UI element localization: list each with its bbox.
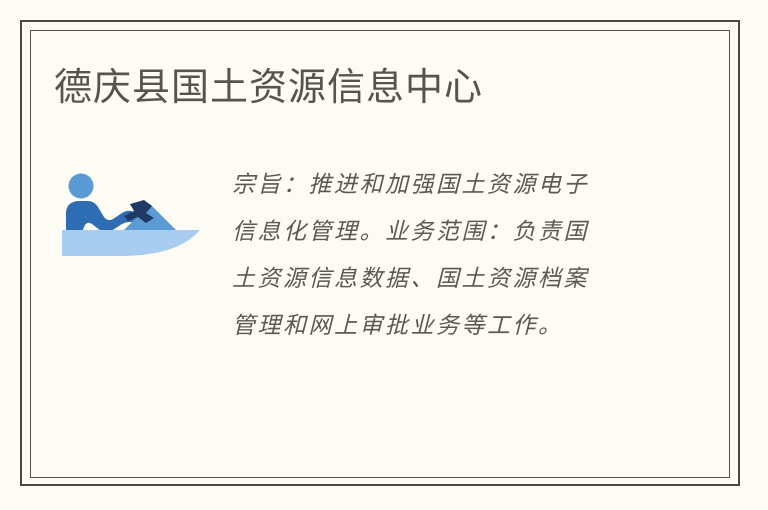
- illustration-head: [69, 174, 94, 199]
- person-boat-illustration: [58, 160, 208, 270]
- info-card: 德庆县国土资源信息中心 宗旨：推进和加强国土资源电子 信息化管理。业务范围：负责…: [0, 0, 768, 510]
- mission-line: 信息化管理。业务范围：负责国: [232, 209, 652, 256]
- page-title: 德庆县国土资源信息中心: [54, 62, 483, 114]
- mission-line: 宗旨：推进和加强国土资源电子: [232, 162, 652, 209]
- mission-line: 土资源信息数据、国土资源档案: [232, 256, 652, 303]
- mission-text-block: 宗旨：推进和加强国土资源电子 信息化管理。业务范围：负责国 土资源信息数据、国土…: [232, 162, 652, 350]
- illustration-boat: [62, 230, 200, 256]
- mission-line: 管理和网上审批业务等工作。: [232, 303, 652, 350]
